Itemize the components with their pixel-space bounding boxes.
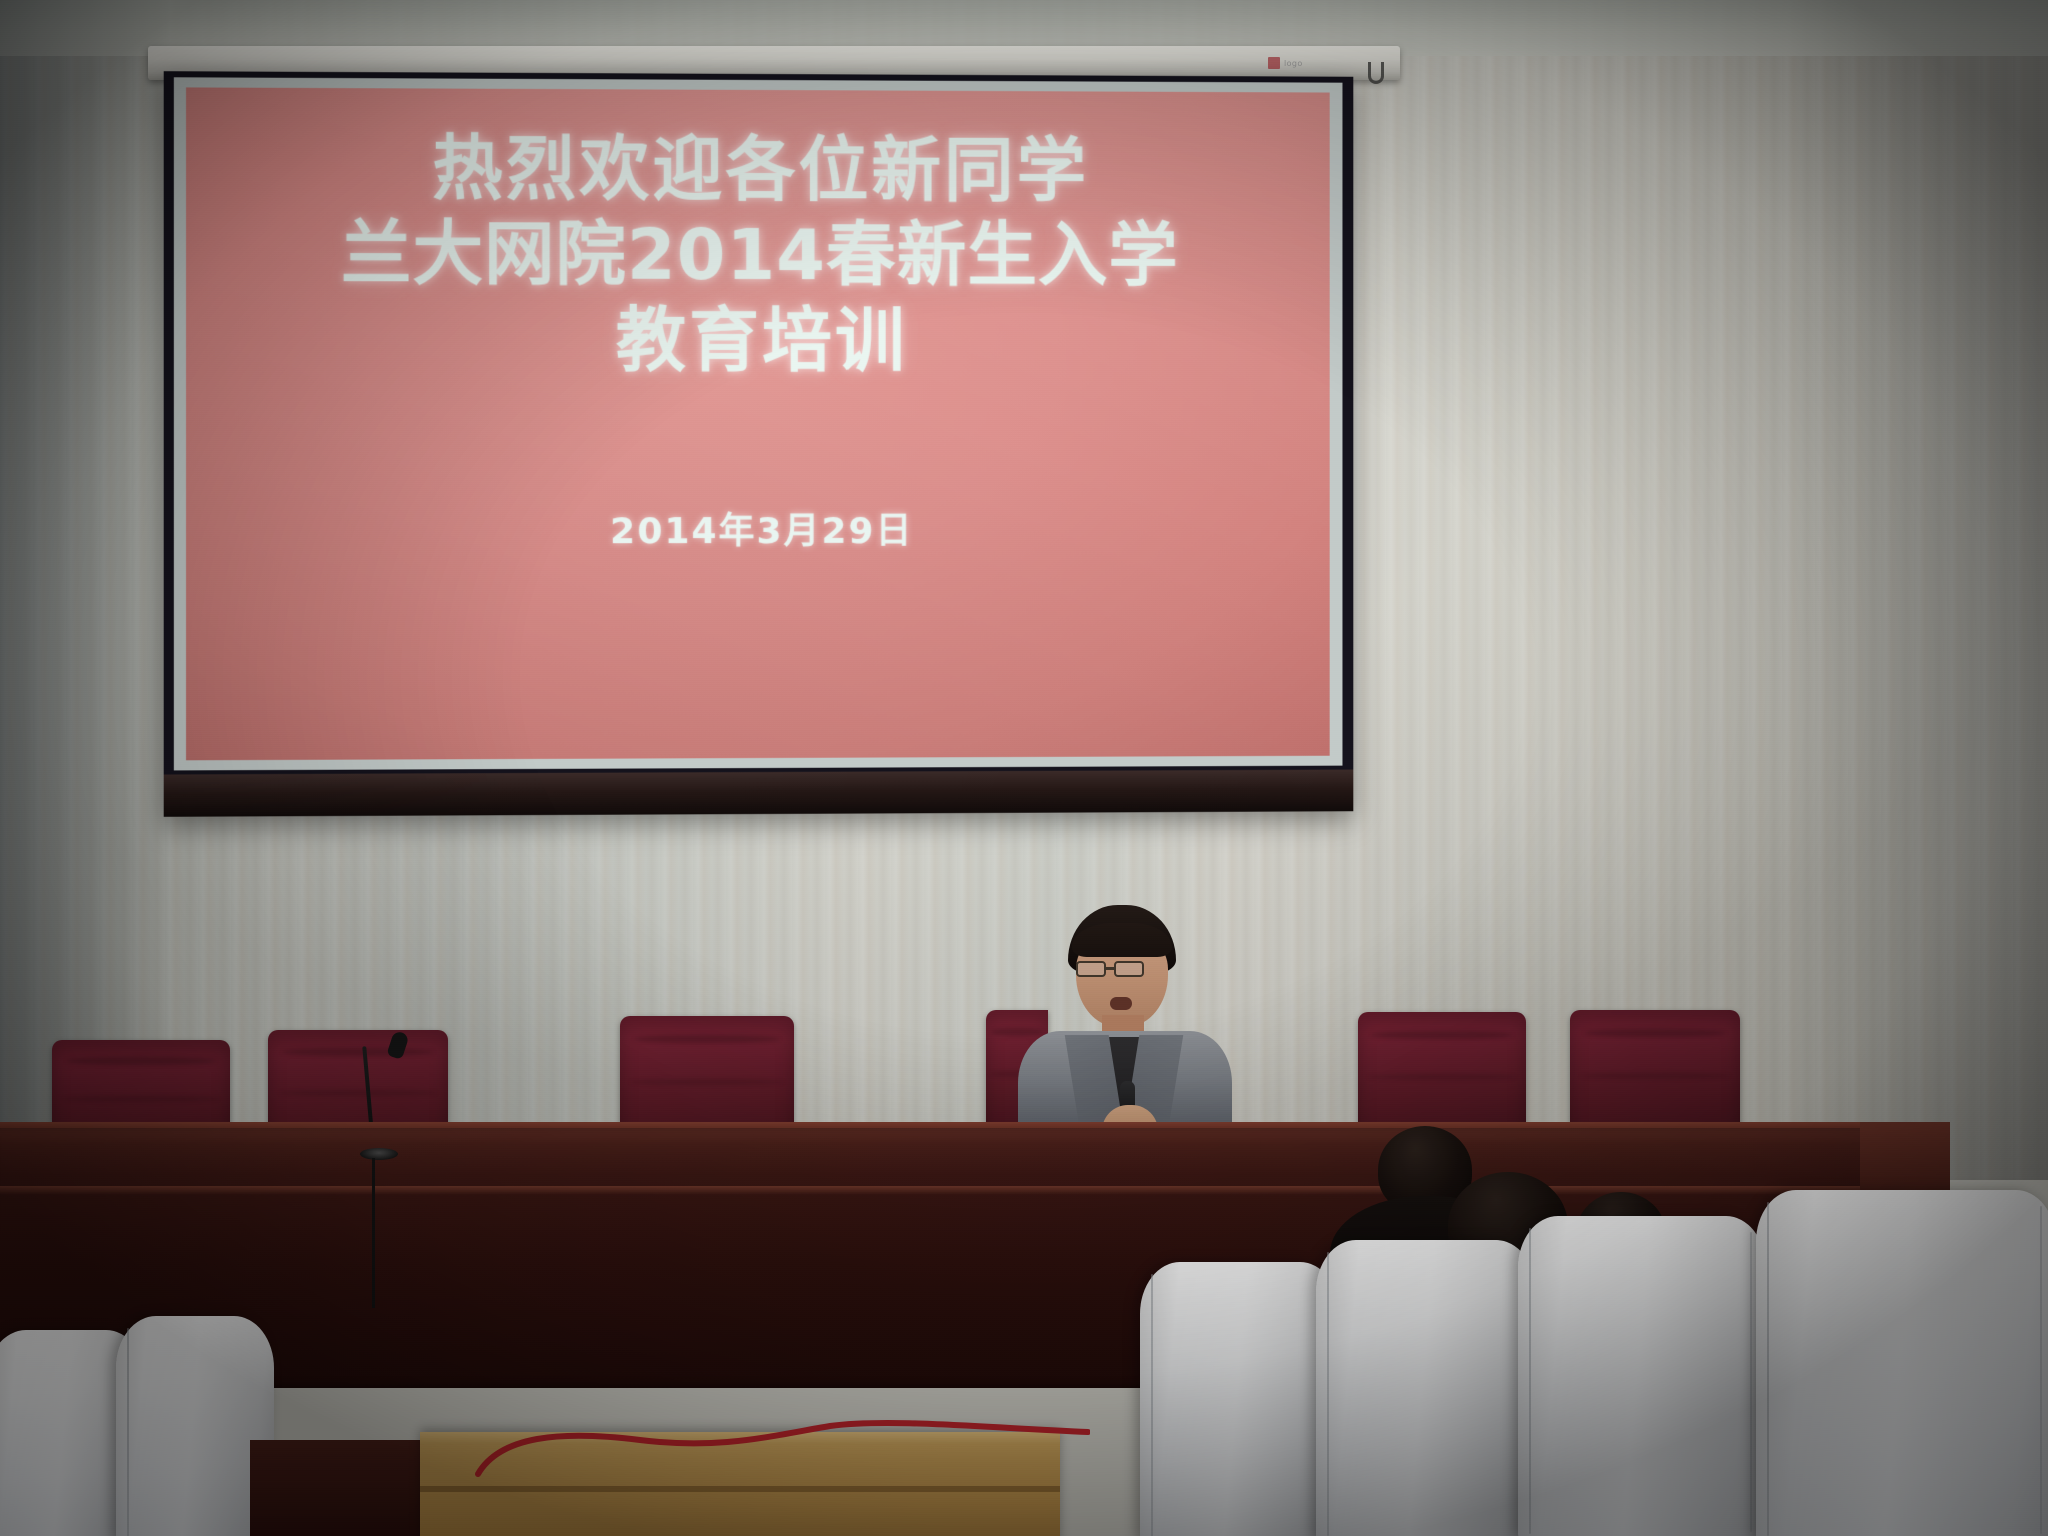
brand-mark-icon [1268, 57, 1280, 69]
microphone-base [360, 1148, 398, 1160]
audience-chair-4 [1756, 1190, 2048, 1536]
projection-screen: 热烈欢迎各位新同学 兰大网院2014春新生入学 教育培训 2014年3月29日 [164, 71, 1354, 817]
eyeglasses-left-lens-icon [1076, 961, 1106, 977]
red-cable [470, 1418, 1090, 1478]
speaker-fringe [1072, 923, 1172, 957]
wall-shadow-right [1788, 0, 2048, 1180]
chair-cover-fold [1518, 1216, 1766, 1536]
slide-title-line-3: 教育培训 [616, 299, 908, 385]
eyeglasses-right-lens-icon [1114, 961, 1144, 977]
speaker-mouth [1110, 997, 1132, 1010]
audience-chair-1 [1140, 1262, 1340, 1536]
foreground-desk-groove [420, 1486, 1060, 1492]
slide-title-line-1: 热烈欢迎各位新同学 [432, 127, 1089, 215]
eyeglasses-bridge-icon [1106, 967, 1116, 970]
wall-shadow-left [0, 0, 170, 1180]
chair-cover-fold [1140, 1262, 1340, 1536]
audience-chair-2 [1316, 1240, 1536, 1536]
chair-cover-fold [1316, 1240, 1536, 1536]
microphone-cable [372, 1158, 375, 1308]
conference-hall-photo: logo 热烈欢迎各位新同学 兰大网院2014春新生入学 教育培训 2014年3… [0, 0, 2048, 1536]
chair-cover-fold [1756, 1190, 2048, 1536]
foreground-dark-panel [250, 1440, 430, 1536]
slide-date: 2014年3月29日 [610, 502, 913, 554]
screen-weight-bar [164, 770, 1354, 817]
projected-slide: 热烈欢迎各位新同学 兰大网院2014春新生入学 教育培训 2014年3月29日 [186, 87, 1330, 760]
slide-title-line-2: 兰大网院2014春新生入学 [341, 212, 1179, 299]
screen-brand-logo: logo [1268, 57, 1303, 69]
podium-table-edge-highlight [0, 1186, 1930, 1195]
audience-chair-3 [1518, 1216, 1766, 1536]
screen-hook-icon [1368, 62, 1384, 84]
speaker-person [1010, 905, 1240, 1145]
brand-text: logo [1284, 59, 1303, 68]
